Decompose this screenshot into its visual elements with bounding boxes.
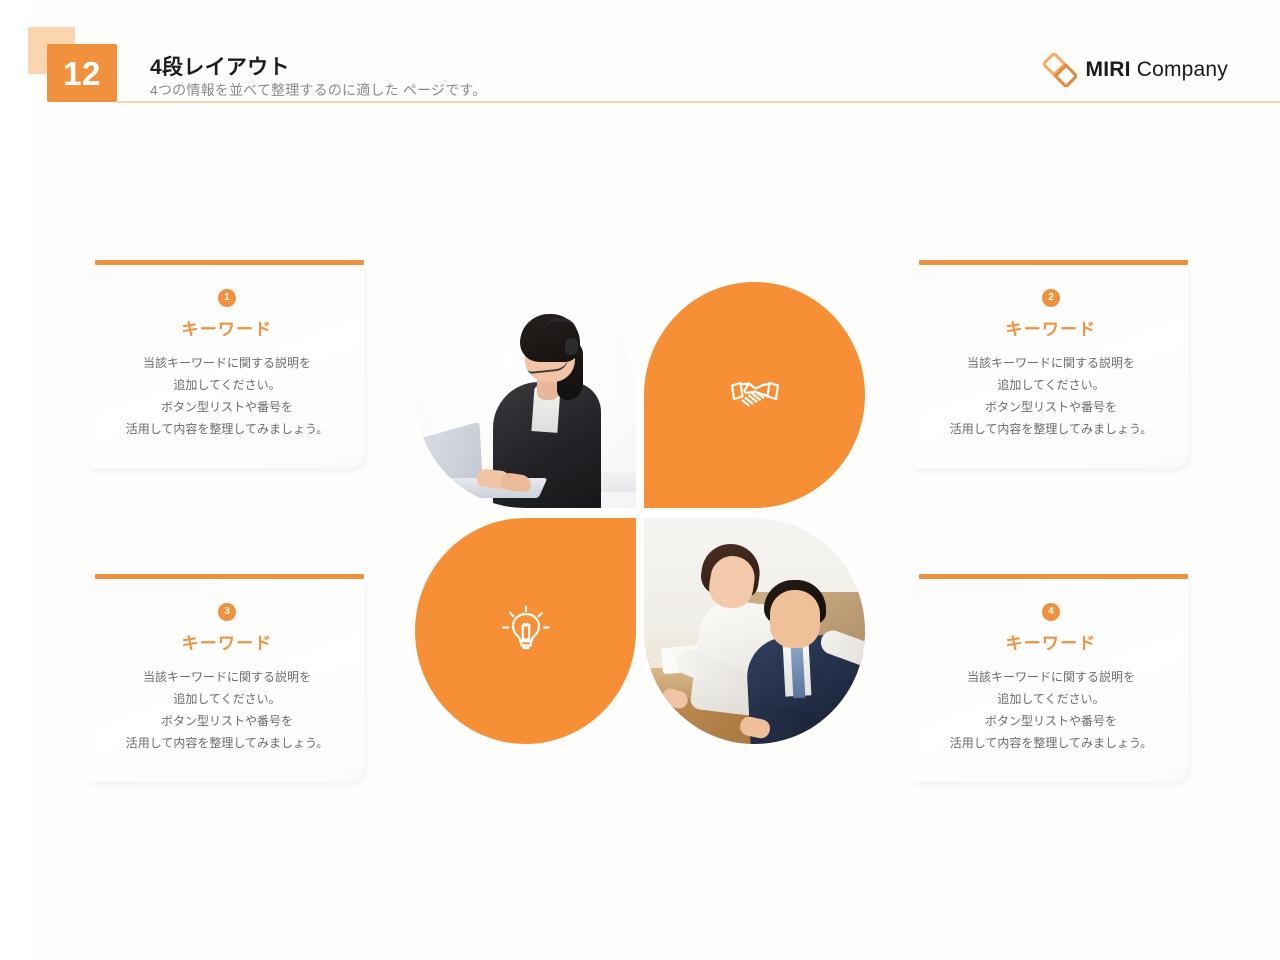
card-desc-line: ボタン型リストや番号を <box>914 710 1188 732</box>
diamond-logo-icon <box>1043 53 1077 87</box>
slide-canvas: 12 4段レイアウト 4つの情報を並べて整理するのに適した ページです。 MIR… <box>0 0 1280 960</box>
card-number-badge: 1 <box>218 289 236 307</box>
info-card-3[interactable]: 3 キーワード 当該キーワードに関する説明を 追加してください。 ボタン型リスト… <box>90 574 364 782</box>
card-desc-line: 活用して内容を整理してみましょう。 <box>914 732 1188 754</box>
card-desc-line: 追加してください。 <box>90 374 364 396</box>
logo-brand: MIRI <box>1086 58 1131 81</box>
petal-bottom-right-photo <box>644 518 865 744</box>
card-title: キーワード <box>90 315 364 340</box>
card-desc-line: ボタン型リストや番号を <box>90 396 364 418</box>
page-number-badge: 12 <box>47 44 117 102</box>
company-logo: MIRI Company <box>1043 54 1228 86</box>
card-number-badge: 2 <box>1042 289 1060 307</box>
card-desc-line: 当該キーワードに関する説明を <box>914 352 1188 374</box>
petal-top-left-photo <box>415 282 636 508</box>
card-desc-line: 当該キーワードに関する説明を <box>90 666 364 688</box>
card-description: 当該キーワードに関する説明を 追加してください。 ボタン型リストや番号を 活用し… <box>914 352 1188 440</box>
card-accent-bar <box>95 260 364 265</box>
slide-header: 12 4段レイアウト 4つの情報を並べて整理するのに適した ページです。 MIR… <box>0 0 1280 104</box>
logo-suffix: Company <box>1131 58 1228 81</box>
petal-bottom-left-icon <box>415 518 636 744</box>
lightbulb-icon <box>496 601 556 661</box>
photo-headset-operator <box>415 282 636 508</box>
photo-colleagues-reviewing-documents <box>644 518 865 744</box>
card-title: キーワード <box>90 629 364 654</box>
card-accent-bar <box>919 574 1188 579</box>
card-desc-line: ボタン型リストや番号を <box>90 710 364 732</box>
card-desc-line: 活用して内容を整理してみましょう。 <box>914 418 1188 440</box>
card-desc-line: 追加してください。 <box>914 374 1188 396</box>
card-number-badge: 4 <box>1042 603 1060 621</box>
petal-top-right-icon <box>644 282 865 508</box>
card-desc-line: 活用して内容を整理してみましょう。 <box>90 418 364 440</box>
handshake-icon <box>725 365 785 425</box>
card-description: 当該キーワードに関する説明を 追加してください。 ボタン型リストや番号を 活用し… <box>90 352 364 440</box>
card-desc-line: 当該キーワードに関する説明を <box>90 352 364 374</box>
info-card-1[interactable]: 1 キーワード 当該キーワードに関する説明を 追加してください。 ボタン型リスト… <box>90 260 364 468</box>
card-number-badge: 3 <box>218 603 236 621</box>
card-desc-line: 当該キーワードに関する説明を <box>914 666 1188 688</box>
header-divider <box>117 101 1280 103</box>
card-desc-line: ボタン型リストや番号を <box>914 396 1188 418</box>
card-description: 当該キーワードに関する説明を 追加してください。 ボタン型リストや番号を 活用し… <box>914 666 1188 754</box>
page-title: 4段レイアウト <box>150 51 290 81</box>
info-card-2[interactable]: 2 キーワード 当該キーワードに関する説明を 追加してください。 ボタン型リスト… <box>914 260 1188 468</box>
info-card-4[interactable]: 4 キーワード 当該キーワードに関する説明を 追加してください。 ボタン型リスト… <box>914 574 1188 782</box>
card-title: キーワード <box>914 629 1188 654</box>
page-subtitle: 4つの情報を並べて整理するのに適した ページです。 <box>150 80 486 100</box>
center-petal-cluster <box>415 282 865 744</box>
card-desc-line: 活用して内容を整理してみましょう。 <box>90 732 364 754</box>
page-number-value: 12 <box>63 57 101 90</box>
company-logo-text: MIRI Company <box>1086 58 1228 82</box>
card-description: 当該キーワードに関する説明を 追加してください。 ボタン型リストや番号を 活用し… <box>90 666 364 754</box>
card-desc-line: 追加してください。 <box>90 688 364 710</box>
card-accent-bar <box>95 574 364 579</box>
card-accent-bar <box>919 260 1188 265</box>
card-title: キーワード <box>914 315 1188 340</box>
card-desc-line: 追加してください。 <box>914 688 1188 710</box>
